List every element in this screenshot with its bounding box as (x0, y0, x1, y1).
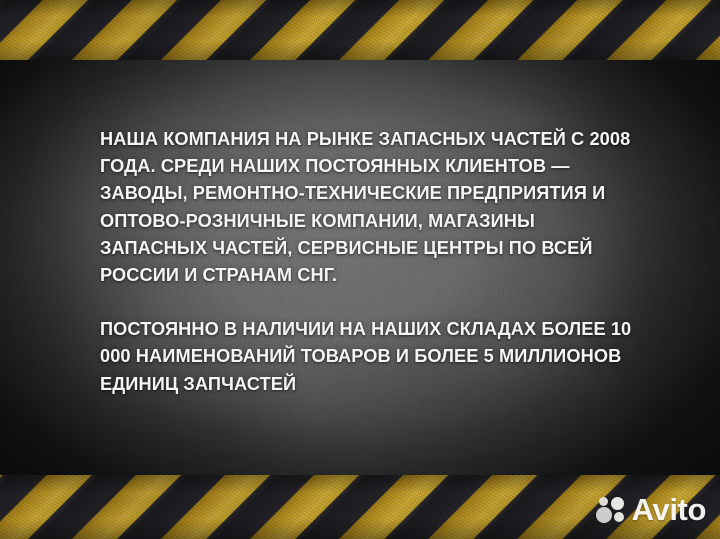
avito-dot-small (599, 497, 608, 506)
avito-dot-medium (611, 497, 624, 510)
hazard-stripes-shading (0, 0, 720, 60)
hazard-stripe-band-top (0, 0, 720, 60)
inventory-description-paragraph: ПОСТОЯННО В НАЛИЧИИ НА НАШИХ СКЛАДАХ БОЛ… (100, 316, 634, 398)
avito-dot-large (596, 507, 612, 523)
company-description-paragraph: НАША КОМПАНИЯ НА РЫНКЕ ЗАПАСНЫХ ЧАСТЕЙ С… (100, 126, 634, 289)
avito-dot-tiny (614, 512, 624, 522)
avito-dots-icon (596, 496, 626, 524)
avito-watermark: Avito (596, 494, 706, 525)
avito-wordmark: Avito (632, 494, 706, 525)
banner-copy-block: НАША КОМПАНИЯ НА РЫНКЕ ЗАПАСНЫХ ЧАСТЕЙ С… (100, 126, 634, 398)
avito-listing-banner: НАША КОМПАНИЯ НА РЫНКЕ ЗАПАСНЫХ ЧАСТЕЙ С… (0, 0, 720, 539)
